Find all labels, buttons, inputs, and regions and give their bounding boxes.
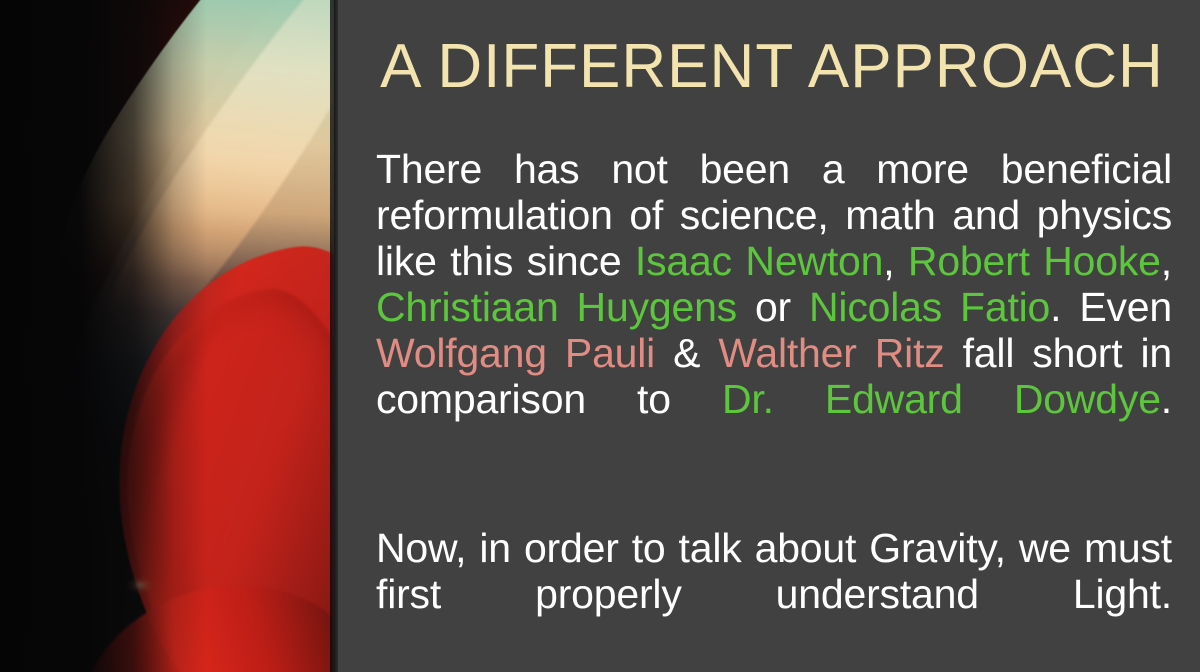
text-segment: . bbox=[1161, 376, 1172, 422]
name-isaac-newton: Isaac Newton bbox=[635, 238, 883, 284]
text-segment: & bbox=[655, 330, 718, 376]
page-title: A DIFFERENT APPROACH bbox=[362, 0, 1182, 100]
name-wolfgang-pauli: Wolfgang Pauli bbox=[376, 330, 655, 376]
presentation-slide: A DIFFERENT APPROACH There has not been … bbox=[0, 0, 1200, 672]
decorative-artwork-image bbox=[0, 0, 334, 672]
text-segment: . Even bbox=[1050, 284, 1172, 330]
text-segment: or bbox=[737, 284, 809, 330]
slide-content-panel: A DIFFERENT APPROACH There has not been … bbox=[338, 0, 1200, 672]
artwork-panel-divider bbox=[330, 0, 338, 672]
slide-body: There has not been a more beneficial ref… bbox=[362, 146, 1182, 663]
text-segment: , bbox=[1161, 238, 1172, 284]
name-nicolas-fatio: Nicolas Fatio bbox=[809, 284, 1050, 330]
name-robert-hooke: Robert Hooke bbox=[908, 238, 1161, 284]
paragraph-historical-context: There has not been a more beneficial ref… bbox=[376, 146, 1172, 469]
name-edward-dowdye: Dr. Edward Dowdye bbox=[722, 376, 1161, 422]
artwork-vignette bbox=[0, 0, 334, 672]
text-segment: , bbox=[883, 238, 908, 284]
name-christiaan-huygens: Christiaan Huygens bbox=[376, 284, 737, 330]
paragraph-gravity-light: Now, in order to talk about Gravity, we … bbox=[376, 525, 1172, 663]
name-walther-ritz: Walther Ritz bbox=[718, 330, 944, 376]
